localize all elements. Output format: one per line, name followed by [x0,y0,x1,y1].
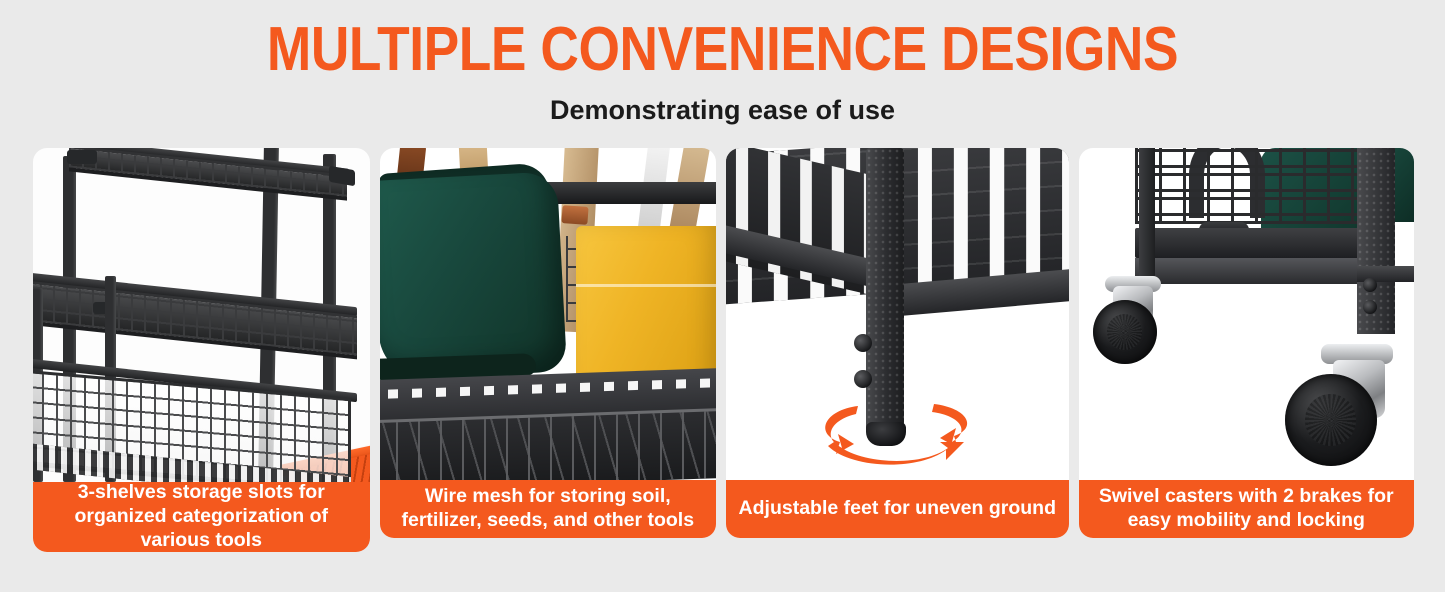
rack-clamp [67,150,97,164]
bolt-icon [854,370,872,388]
textured-leg [866,148,904,434]
page-subtitle: Demonstrating ease of use [0,94,1445,126]
panel-caption-swivel-casters: Swivel casters with 2 brakes for easy mo… [1079,480,1415,538]
wire-mesh-basket [380,408,717,480]
feature-panel-shelves[interactable]: 3-shelves storage slots for organized ca… [33,148,370,558]
caster-wheel [1285,374,1377,466]
green-rubber-boot [380,171,567,380]
photo-adjustable-feet [726,148,1068,480]
frame-post [1139,148,1155,284]
photo-wire-mesh [380,148,717,480]
wire-mesh-panel [1135,148,1373,216]
rotation-arrow-icon [812,398,982,470]
frame-beam [1135,228,1385,258]
tool-collar [561,205,588,225]
infographic-page: MULTIPLE CONVENIENCE DESIGNS Demonstrati… [0,0,1445,592]
photo-shelves [33,148,370,482]
panel-caption-adjustable-feet: Adjustable feet for uneven ground [726,480,1068,538]
header: MULTIPLE CONVENIENCE DESIGNS Demonstrati… [0,0,1445,126]
caster-wheel [1093,300,1157,364]
feature-panel-wire-mesh[interactable]: Wire mesh for storing soil, fertilizer, … [380,148,717,558]
feature-panel-swivel-casters[interactable]: Swivel casters with 2 brakes for easy mo… [1079,148,1415,558]
bolt-icon [1363,300,1377,314]
feature-panel-grid: 3-shelves storage slots for organized ca… [33,148,1414,558]
feature-panel-adjustable-feet[interactable]: Adjustable feet for uneven ground [726,148,1068,558]
page-title: MULTIPLE CONVENIENCE DESIGNS [101,18,1344,82]
panel-caption-shelves: 3-shelves storage slots for organized ca… [33,482,370,552]
panel-caption-wire-mesh: Wire mesh for storing soil, fertilizer, … [380,480,717,538]
bolt-icon [854,334,872,352]
photo-swivel-casters [1079,148,1415,480]
bolt-icon [1363,278,1377,292]
frame-beam [1135,258,1385,284]
